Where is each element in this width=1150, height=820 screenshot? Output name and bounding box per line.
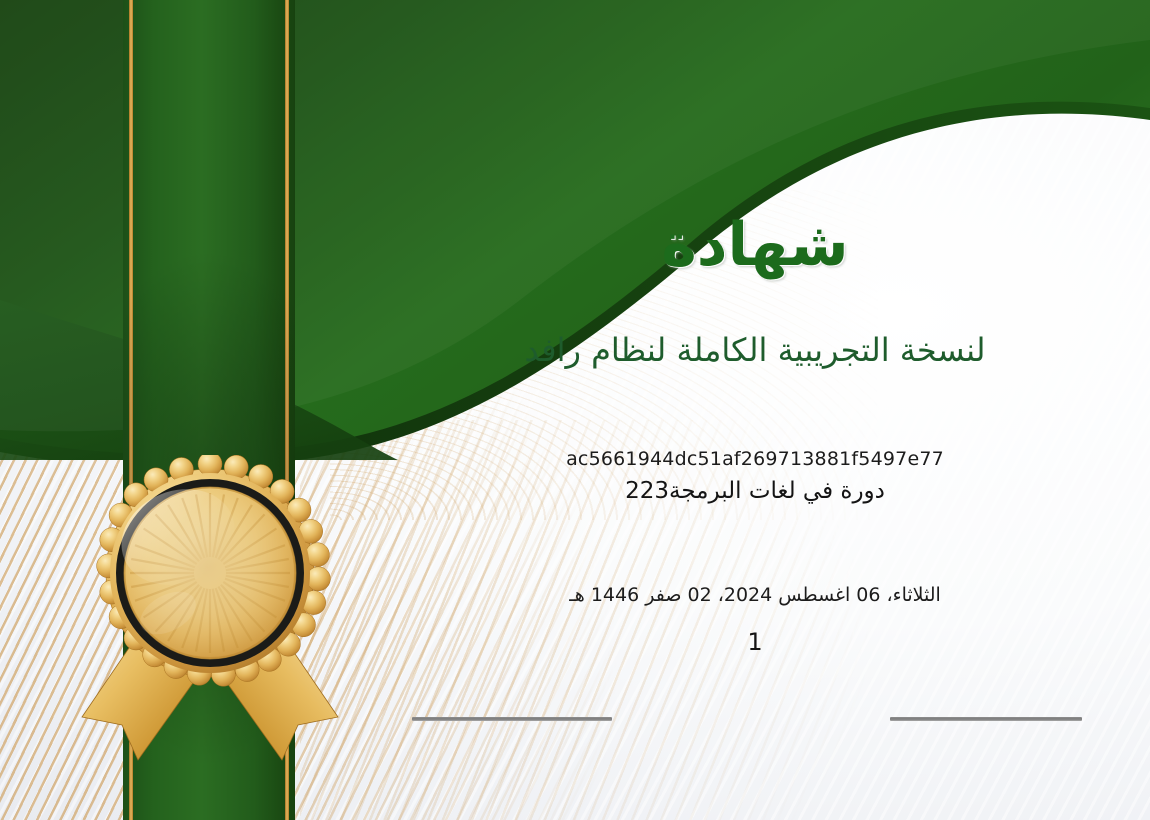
page-title: شهادة (360, 212, 1150, 278)
course-name: دورة في لغات البرمجة223 (360, 478, 1150, 504)
certificate-canvas: شهادة لنسخة التجريبية الكاملة لنظام رافد… (0, 0, 1150, 820)
certificate-subtitle: لنسخة التجريبية الكاملة لنظام رافد (360, 330, 1150, 372)
certificate-hash: ac5661944dc51af269713881f5497e77 (360, 448, 1150, 470)
signature-line-left (412, 717, 612, 721)
issue-date: الثلاثاء، 06 اغسطس 2024، 02 صفر 1446 هـ (360, 584, 1150, 606)
signature-line-right (890, 717, 1082, 721)
certificate-text-block: شهادة لنسخة التجريبية الكاملة لنظام رافد… (360, 0, 1150, 820)
gold-award-seal-icon (60, 455, 360, 765)
certificate-number: 1 (360, 628, 1150, 656)
